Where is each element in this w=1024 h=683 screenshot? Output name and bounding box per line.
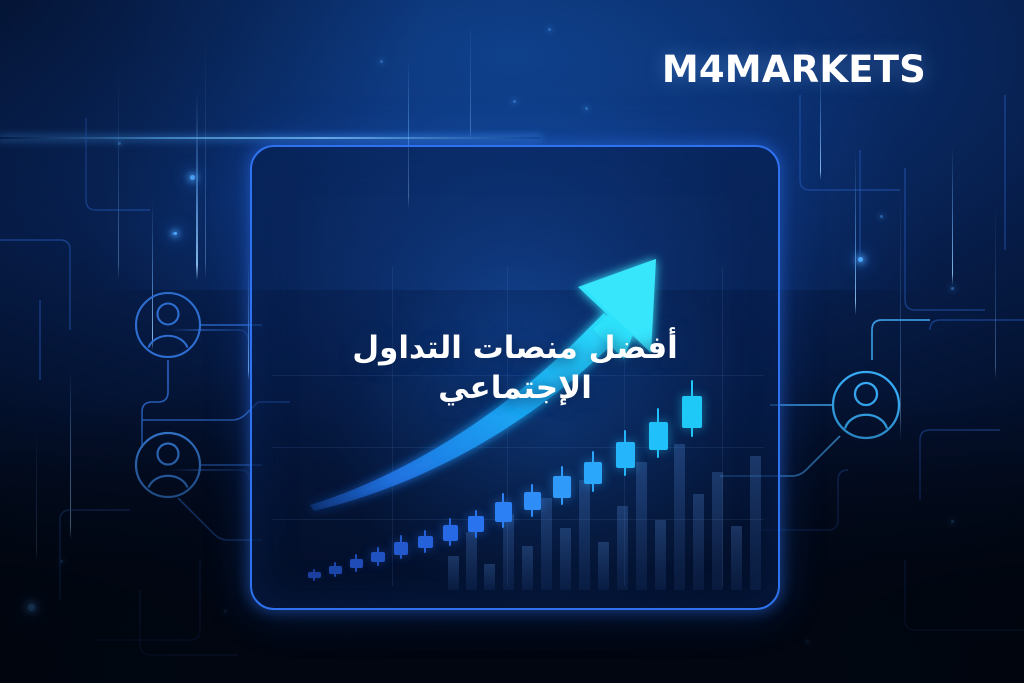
growth-arrow-icon xyxy=(252,147,778,608)
banner-root: M4MARKETS xyxy=(0,0,1024,683)
brand-logo: M4MARKETS xyxy=(662,48,926,91)
hero-card: أفضل منصات التداول الإجتماعي xyxy=(250,145,780,610)
candlestick-chart xyxy=(252,147,778,608)
